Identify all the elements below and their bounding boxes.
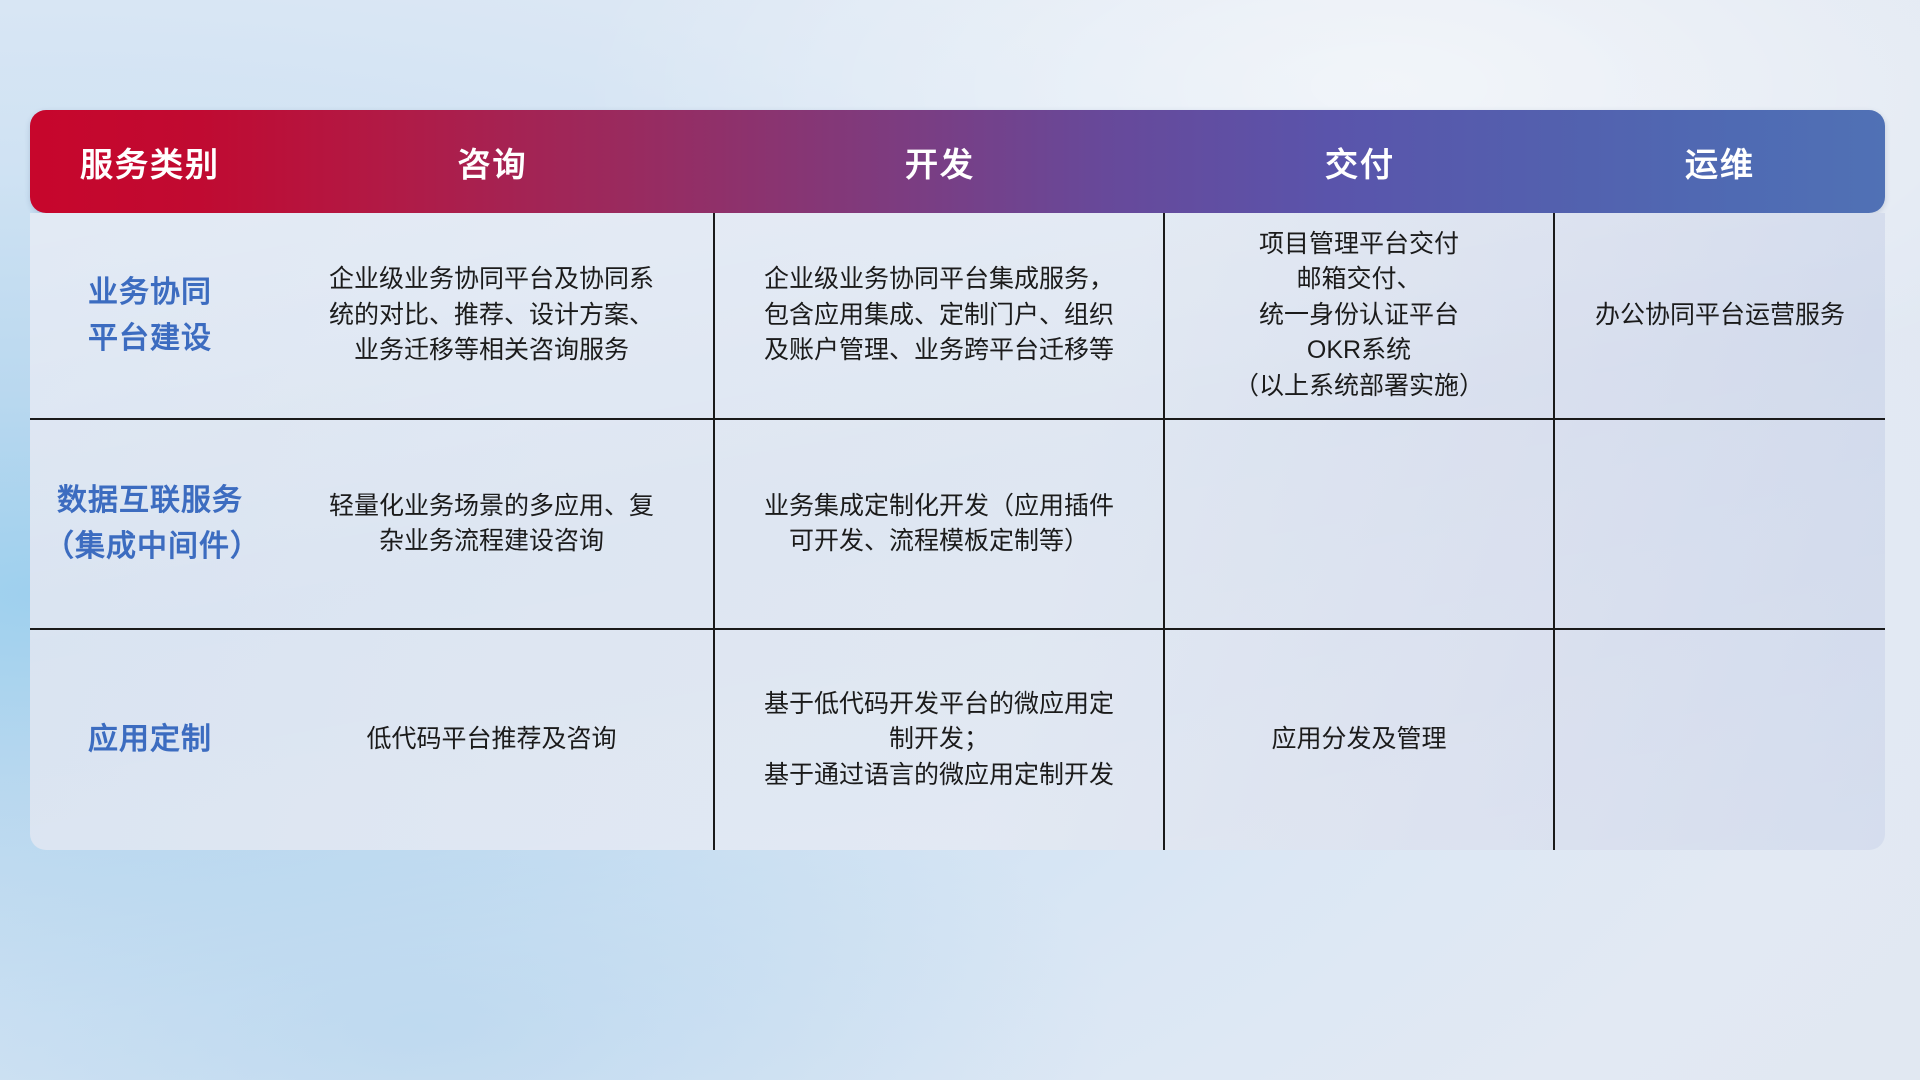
- cell-operations: 办公协同平台运营服务: [1555, 213, 1885, 418]
- column-header-delivery: 交付: [1165, 110, 1555, 213]
- cell-delivery: 应用分发及管理: [1165, 630, 1555, 850]
- table-row: 应用定制 低代码平台推荐及咨询 基于低代码开发平台的微应用定 制开发； 基于通过…: [30, 630, 1885, 850]
- column-header-consulting: 咨询: [270, 110, 715, 213]
- cell-delivery: [1165, 420, 1555, 628]
- cell-delivery: 项目管理平台交付 邮箱交付、 统一身份认证平台 OKR系统 （以上系统部署实施）: [1165, 213, 1555, 418]
- cell-development: 基于低代码开发平台的微应用定 制开发； 基于通过语言的微应用定制开发: [715, 630, 1165, 850]
- cell-operations: [1555, 420, 1885, 628]
- cell-operations: [1555, 630, 1885, 850]
- cell-development: 业务集成定制化开发（应用插件 可开发、流程模板定制等）: [715, 420, 1165, 628]
- column-header-service-category: 服务类别: [30, 110, 270, 213]
- row-category-label: 应用定制: [30, 630, 270, 850]
- table-row: 数据互联服务 （集成中间件） 轻量化业务场景的多应用、复 杂业务流程建设咨询 业…: [30, 420, 1885, 630]
- cell-consulting: 低代码平台推荐及咨询: [270, 630, 715, 850]
- table-row: 业务协同 平台建设 企业级业务协同平台及协同系 统的对比、推荐、设计方案、 业务…: [30, 213, 1885, 420]
- column-header-development: 开发: [715, 110, 1165, 213]
- column-header-operations: 运维: [1555, 110, 1885, 213]
- table-header-row: 服务类别 咨询 开发 交付 运维: [30, 110, 1885, 213]
- cell-consulting: 企业级业务协同平台及协同系 统的对比、推荐、设计方案、 业务迁移等相关咨询服务: [270, 213, 715, 418]
- table-body: 业务协同 平台建设 企业级业务协同平台及协同系 统的对比、推荐、设计方案、 业务…: [30, 213, 1885, 850]
- row-category-label: 数据互联服务 （集成中间件）: [30, 420, 270, 628]
- cell-consulting: 轻量化业务场景的多应用、复 杂业务流程建设咨询: [270, 420, 715, 628]
- service-matrix-table: 服务类别 咨询 开发 交付 运维 业务协同 平台建设 企业级业务协同平台及协同系…: [30, 110, 1885, 850]
- row-category-label: 业务协同 平台建设: [30, 213, 270, 418]
- cell-development: 企业级业务协同平台集成服务， 包含应用集成、定制门户、组织 及账户管理、业务跨平…: [715, 213, 1165, 418]
